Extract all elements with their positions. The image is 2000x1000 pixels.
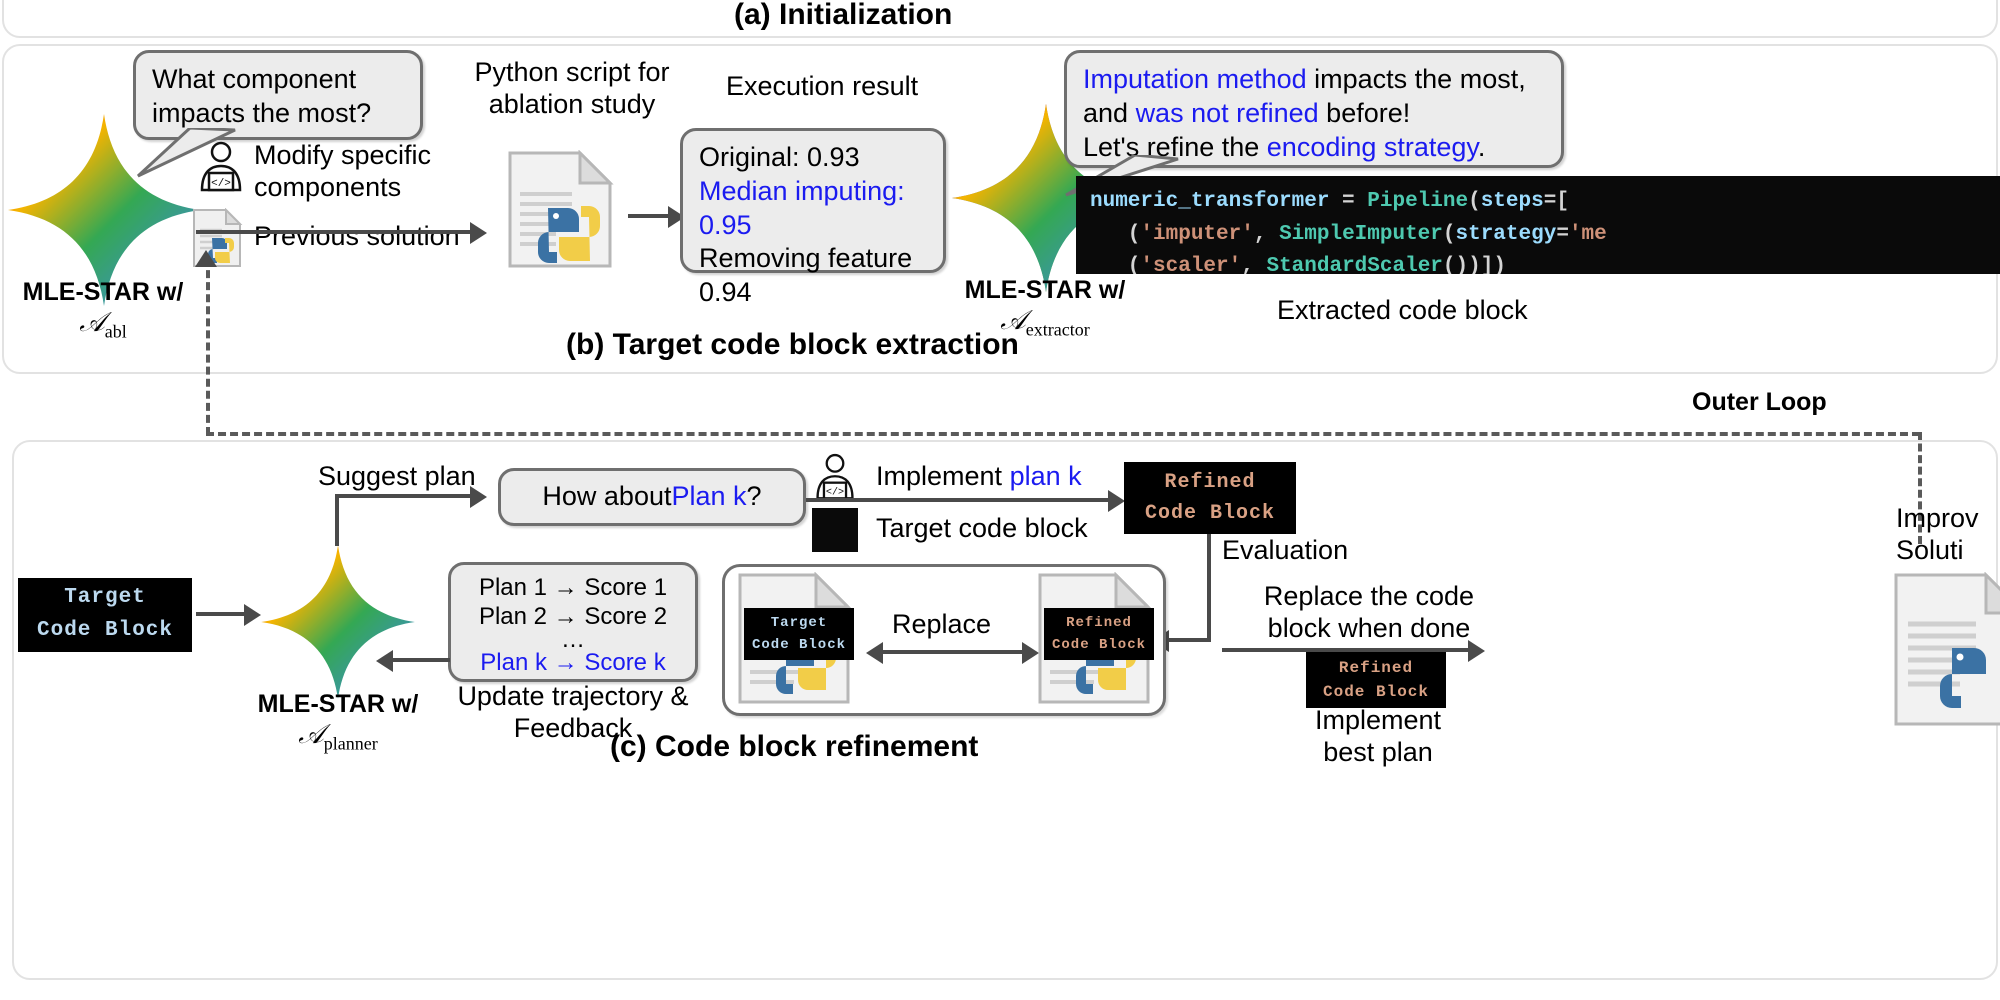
code-line: ('imputer', SimpleImputer(strategy='me — [1090, 219, 1986, 252]
update-trajectory-label: Update trajectory & Feedback — [440, 680, 706, 745]
evaluation-label: Evaluation — [1222, 534, 1348, 566]
agent-name-extractor: MLE-STAR w/ — [965, 276, 1126, 304]
agent-subscript-ablation: 𝒜abl — [79, 307, 127, 337]
implement-plan-label: Implement plan k — [876, 460, 1082, 492]
python-script-icon — [504, 150, 620, 272]
arrow-target-to-planner — [196, 612, 248, 616]
tag-line-2: Code Block — [1323, 680, 1429, 704]
improved-solution-label: Improv Soluti — [1896, 502, 1979, 567]
execution-result-label: Execution result — [726, 70, 918, 102]
outer-loop-dashed-horizontal — [206, 432, 1920, 436]
bubble-plan-suggestion: How about Plan k? — [498, 468, 806, 526]
line-refined-to-loop — [1207, 534, 1211, 642]
plan-score-row: Plan 1 → Score 1 — [461, 573, 685, 602]
arrow-to-script — [196, 230, 472, 234]
python-script-label: Python script for ablation study — [452, 56, 692, 121]
tag-line-2: Code Block — [1052, 634, 1146, 656]
tag-line-1: Refined — [1066, 612, 1132, 634]
plan-suffix: ? — [747, 480, 762, 514]
arrow-eval-left — [1165, 638, 1209, 642]
previous-solution-label: Previous solution — [254, 220, 460, 252]
python-doc-improved-icon — [1890, 572, 2000, 732]
caption-a: (a) Initialization — [734, 0, 952, 32]
target-code-block-tag: Target Code Block — [18, 578, 192, 652]
agent-name-ablation: MLE-STAR w/ — [23, 278, 184, 306]
replace-when-done-label: Replace the code block when done — [1222, 580, 1516, 645]
suggest-plan-arrow-h — [335, 494, 473, 498]
mle-star-planner-icon — [258, 542, 418, 702]
tag-line-2: Code Block — [37, 615, 173, 648]
execution-result-box: Original: 0.93 Median imputing: 0.95 Rem… — [680, 128, 946, 273]
target-code-block-label: Target code block — [876, 512, 1088, 544]
execution-row: Median imputing: 0.95 — [699, 175, 927, 243]
arrowhead-to-script — [470, 222, 487, 244]
code-line: numeric_transformer = Pipeline(steps=[ — [1090, 186, 1986, 219]
plan-prefix: How about — [542, 480, 671, 514]
panel-initialization — [2, 0, 1998, 38]
arrowhead-implement-to-refined — [1108, 490, 1125, 512]
implement-best-plan-label: Implement best plan — [1294, 704, 1462, 769]
figure-root: (a) Initialization (b) Target code block… — [0, 0, 2000, 1000]
bubble-line-1: What component — [152, 63, 404, 97]
outer-loop-dashed-up — [206, 258, 210, 435]
execution-row: Removing feature 0.94 — [699, 242, 927, 310]
agent-label-ablation: MLE-STAR w/ 𝒜abl — [0, 278, 206, 342]
tag-line-1: Target — [64, 582, 146, 615]
code-line: ('scaler', StandardScaler())]) — [1090, 251, 1986, 274]
developer-icon: </> — [196, 140, 246, 198]
arrow-implement-to-refined — [806, 498, 1112, 502]
modify-components-label: Modify specific components — [254, 139, 431, 204]
arrow-feedback-to-planner — [390, 658, 450, 662]
tag-line-1: Target — [771, 612, 827, 634]
tag-line-2: Code Block — [1145, 498, 1275, 529]
refined-code-block-tag-small: Refined Code Block — [1306, 652, 1446, 708]
arrowhead-replace-when-done — [1468, 640, 1485, 662]
suggest-plan-arrowhead — [470, 486, 487, 508]
arrowhead-feedback-to-planner — [376, 650, 393, 672]
extracted-code-block-caption: Extracted code block — [1277, 294, 1528, 326]
replace-double-arrow — [880, 650, 1024, 654]
bubble-extractor-conclusion: Imputation method impacts the most, and … — [1064, 50, 1564, 168]
doc-target-code-block-tag: Target Code Block — [744, 608, 854, 660]
replace-label: Replace — [892, 608, 991, 640]
plan-score-row: … — [461, 632, 685, 649]
replace-arrowhead-left — [866, 642, 883, 664]
extractor-line-2: and was not refined before! — [1083, 97, 1545, 131]
caption-outer-loop: Outer Loop — [1692, 388, 1827, 417]
plan-highlight: Plan k — [672, 480, 747, 514]
suggest-plan-label: Suggest plan — [318, 460, 476, 492]
arrow-to-execution — [628, 214, 672, 218]
svg-text:</>: </> — [826, 487, 844, 499]
agent-subscript-extractor: 𝒜extractor — [1000, 305, 1090, 335]
agent-subscript-planner: 𝒜planner — [298, 719, 378, 749]
agent-label-extractor: MLE-STAR w/ 𝒜extractor — [940, 276, 1150, 340]
bubble-ablation-question: What component impacts the most? — [133, 50, 423, 140]
tag-line-1: Refined — [1339, 656, 1413, 680]
agent-name-planner: MLE-STAR w/ — [258, 690, 419, 718]
suggest-plan-arrow-v — [335, 494, 339, 546]
svg-text:</>: </> — [211, 178, 231, 190]
refined-code-block-tag: Refined Code Block — [1124, 462, 1296, 534]
tag-line-1: Refined — [1164, 467, 1255, 498]
execution-row: Original: 0.93 — [699, 141, 927, 175]
doc-refined-code-block-tag: Refined Code Block — [1044, 608, 1154, 660]
agent-label-planner: MLE-STAR w/ 𝒜planner — [238, 690, 438, 754]
plan-score-row: Plan k → Score k — [461, 648, 685, 677]
bubble-line-2: impacts the most? — [152, 97, 404, 131]
bubble-plan-scores: Plan 1 → Score 1 Plan 2 → Score 2 … Plan… — [448, 562, 698, 682]
outer-loop-arrowhead — [195, 250, 217, 267]
target-code-block-swatch — [812, 508, 858, 552]
tag-line-2: Code Block — [752, 634, 846, 656]
extractor-line-1: Imputation method impacts the most, — [1083, 63, 1545, 97]
extracted-code-block: numeric_transformer = Pipeline(steps=[ (… — [1076, 176, 2000, 274]
